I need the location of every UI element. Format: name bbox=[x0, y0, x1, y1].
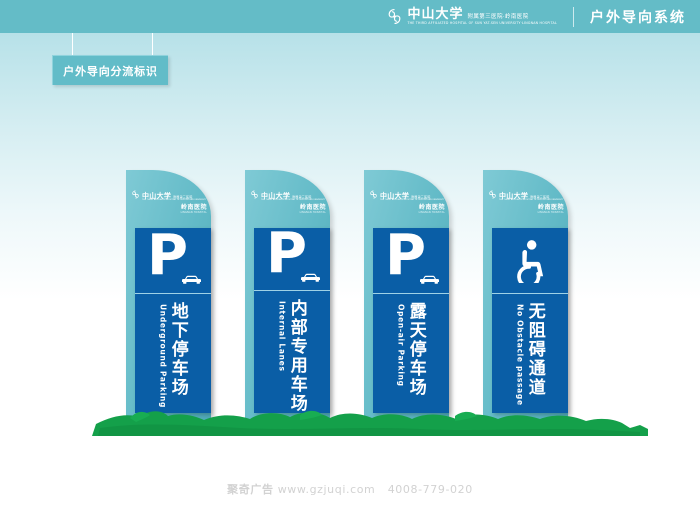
sysu-emblem-icon bbox=[386, 8, 403, 25]
section-label: 户外导向分流标识 bbox=[52, 55, 168, 85]
pillar-logo-lockup: 中山大学 附属第三医院 THE THIRD AFFILIATED HOSPITA… bbox=[369, 190, 445, 214]
sysu-emblem-icon bbox=[250, 190, 259, 199]
parking-car-icon: P bbox=[385, 235, 437, 287]
grass-ground bbox=[0, 398, 700, 438]
pillar-brand-cn: 中山大学 bbox=[142, 192, 171, 199]
pillar-logo-lockup: 中山大学 附属第三医院 THE THIRD AFFILIATED HOSPITA… bbox=[250, 190, 326, 214]
sysu-emblem-icon bbox=[369, 190, 378, 199]
sign-panel[interactable]: 无阻碍通道 No Obstacle passage bbox=[492, 228, 568, 413]
sign-text-area: 内部专用车场 Internal Lanes bbox=[254, 291, 330, 413]
wheelchair-accessible-icon bbox=[509, 239, 551, 283]
sign-panel[interactable]: P 露天停车场 Open-air Parking bbox=[373, 228, 449, 413]
sign-text-cn: 内部专用车场 bbox=[288, 299, 306, 413]
sign-text-cn: 地下停车场 bbox=[169, 302, 187, 397]
brand-name-en: THE THIRD AFFILIATED HOSPITAL OF SUN YAT… bbox=[407, 22, 557, 26]
sign-pillar[interactable]: 中山大学 附属第三医院 THE THIRD AFFILIATED HOSPITA… bbox=[364, 170, 449, 425]
pillar-brand-en: THE THIRD AFFILIATED HOSPITAL OF SUN YAT… bbox=[380, 200, 445, 202]
car-icon bbox=[418, 274, 441, 285]
sign-panel[interactable]: P 地下停车场 Underground Parking bbox=[135, 228, 211, 413]
pillar-hospital-en: LINGNAN HOSPITAL bbox=[538, 212, 564, 214]
pillar-brand-cn: 中山大学 bbox=[499, 192, 528, 199]
sign-text-en: Internal Lanes bbox=[278, 301, 286, 372]
footer-company: 聚奇广告 bbox=[227, 483, 273, 496]
sign-icon-area: P bbox=[135, 228, 211, 294]
label-hanger-left bbox=[72, 33, 73, 55]
page-header: 中山大学 附属第三医院·岭南医院 THE THIRD AFFILIATED HO… bbox=[0, 0, 700, 33]
pillar-brand-en: THE THIRD AFFILIATED HOSPITAL OF SUN YAT… bbox=[142, 200, 207, 202]
sign-pillar[interactable]: 中山大学 附属第三医院 THE THIRD AFFILIATED HOSPITA… bbox=[483, 170, 568, 425]
page-title: 户外导向系统 bbox=[590, 7, 686, 27]
pillar-hospital-cn: 岭南医院 bbox=[419, 205, 445, 211]
sign-text-en: Open-air Parking bbox=[397, 304, 405, 387]
footer-credit: 聚奇广告 www.gzjuqi.com 4008-779-020 bbox=[0, 481, 700, 497]
poster-canvas: 中山大学 附属第三医院·岭南医院 THE THIRD AFFILIATED HO… bbox=[0, 0, 700, 516]
pillar-logo-lockup: 中山大学 附属第三医院 THE THIRD AFFILIATED HOSPITA… bbox=[131, 190, 207, 214]
car-icon bbox=[299, 272, 322, 283]
footer-phone: 4008-779-020 bbox=[388, 483, 473, 496]
sign-icon-area: P bbox=[254, 228, 330, 291]
pillar-body: 中山大学 附属第三医院 THE THIRD AFFILIATED HOSPITA… bbox=[245, 170, 330, 425]
sign-pillar[interactable]: 中山大学 附属第三医院 THE THIRD AFFILIATED HOSPITA… bbox=[126, 170, 211, 425]
pillar-body: 中山大学 附属第三医院 THE THIRD AFFILIATED HOSPITA… bbox=[483, 170, 568, 425]
pillar-hospital-cn: 岭南医院 bbox=[538, 205, 564, 211]
pillar-hospital-en: LINGNAN HOSPITAL bbox=[300, 212, 326, 214]
header-divider bbox=[573, 7, 574, 27]
sign-icon-area: P bbox=[373, 228, 449, 294]
pillar-brand-en: THE THIRD AFFILIATED HOSPITAL OF SUN YAT… bbox=[261, 200, 326, 202]
section-label-text: 户外导向分流标识 bbox=[63, 63, 157, 79]
sign-text-area: 地下停车场 Underground Parking bbox=[135, 294, 211, 413]
pillar-brand-en: THE THIRD AFFILIATED HOSPITAL OF SUN YAT… bbox=[499, 200, 564, 202]
sign-text-cn: 露天停车场 bbox=[407, 302, 425, 397]
sign-pillar[interactable]: 中山大学 附属第三医院 THE THIRD AFFILIATED HOSPITA… bbox=[245, 170, 330, 425]
pillar-logo-lockup: 中山大学 附属第三医院 THE THIRD AFFILIATED HOSPITA… bbox=[488, 190, 564, 214]
pillar-body: 中山大学 附属第三医院 THE THIRD AFFILIATED HOSPITA… bbox=[126, 170, 211, 425]
label-hanger-right bbox=[152, 33, 153, 55]
sysu-emblem-icon bbox=[488, 190, 497, 199]
sign-text-area: 露天停车场 Open-air Parking bbox=[373, 294, 449, 413]
parking-car-icon: P bbox=[266, 233, 318, 285]
pillar-hospital-cn: 岭南医院 bbox=[300, 205, 326, 211]
pillar-brand-cn: 中山大学 bbox=[261, 192, 290, 199]
sign-text-en: Underground Parking bbox=[159, 304, 167, 408]
sign-text-cn: 无阻碍通道 bbox=[526, 302, 544, 397]
pillar-hospital-en: LINGNAN HOSPITAL bbox=[181, 212, 207, 214]
university-logo: 中山大学 附属第三医院·岭南医院 THE THIRD AFFILIATED HO… bbox=[386, 8, 557, 26]
sign-text-area: 无阻碍通道 No Obstacle passage bbox=[492, 294, 568, 413]
sign-text-en: No Obstacle passage bbox=[516, 304, 524, 406]
sign-panel[interactable]: P 内部专用车场 Internal Lanes bbox=[254, 228, 330, 413]
pillar-hospital-cn: 岭南医院 bbox=[181, 205, 207, 211]
pillar-brand-cn: 中山大学 bbox=[380, 192, 409, 199]
car-icon bbox=[180, 274, 203, 285]
parking-car-icon: P bbox=[147, 235, 199, 287]
pillar-hospital-en: LINGNAN HOSPITAL bbox=[419, 212, 445, 214]
footer-website: www.gzjuqi.com bbox=[278, 483, 376, 496]
brand-name-cn: 中山大学 bbox=[407, 8, 463, 21]
pillar-body: 中山大学 附属第三医院 THE THIRD AFFILIATED HOSPITA… bbox=[364, 170, 449, 425]
sysu-emblem-icon bbox=[131, 190, 140, 199]
sign-icon-area bbox=[492, 228, 568, 294]
